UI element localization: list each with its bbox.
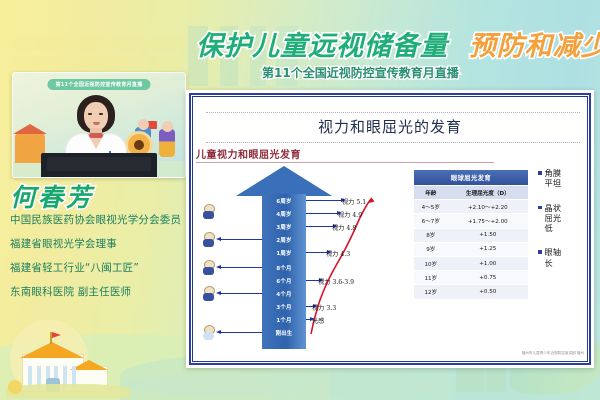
live-video-player[interactable]: 第11个全国近视防控宣传教育月直播 bbox=[12, 72, 186, 178]
cell-age: 10岁 bbox=[414, 256, 448, 270]
age-label-9: 1个月 bbox=[263, 316, 305, 324]
connector-1 bbox=[306, 213, 338, 214]
age-label-8: 3个月 bbox=[263, 303, 305, 311]
video-child-2 bbox=[159, 129, 175, 157]
speaker-credential-1: 中国民族医药协会眼视光学分会委员 bbox=[10, 212, 188, 227]
table-title: 眼球屈光发育 bbox=[414, 170, 528, 186]
slide-bullet-list: 角膜 平坦 晶状 屈光 低 眼轴 长 bbox=[538, 168, 594, 282]
vision-value-3: 视力 4.3 bbox=[326, 249, 350, 258]
connector-4 bbox=[306, 252, 328, 253]
video-podium bbox=[41, 153, 157, 177]
table-title-row: 眼球屈光发育 bbox=[414, 170, 528, 186]
child-figure-toddler bbox=[200, 204, 217, 220]
age-label-5: 8个月 bbox=[263, 264, 305, 272]
vision-value-2: 视力 4.8 bbox=[332, 223, 356, 232]
left-connector-3 bbox=[220, 332, 262, 333]
slide-subtitle: 儿童视力和眼屈光发育 bbox=[196, 146, 301, 161]
table-row: 12岁+0.50 bbox=[414, 285, 528, 299]
page-title-green: 保护儿童远视储备量 bbox=[196, 31, 448, 62]
vision-value-5: 视力 3.3 bbox=[312, 303, 336, 312]
school-illustration bbox=[6, 336, 126, 398]
age-label-1: 4周岁 bbox=[263, 210, 305, 218]
connector-9 bbox=[306, 319, 311, 320]
connector-2 bbox=[306, 226, 334, 227]
table-row: 4～5岁+2.10～+2.20 bbox=[414, 200, 528, 214]
left-connector-2 bbox=[220, 293, 262, 294]
child-figure-crawling bbox=[200, 286, 217, 302]
speaker-credential-2: 福建省眼视光学会理事 bbox=[10, 236, 188, 251]
page-title-orange: 预防和减少近视发 bbox=[469, 31, 600, 62]
cell-age: 8岁 bbox=[414, 228, 448, 242]
slide-divider-bottom bbox=[206, 142, 580, 143]
cell-power: +0.50 bbox=[448, 285, 528, 299]
table-col-age: 年龄 bbox=[414, 186, 448, 200]
presentation-slide[interactable]: 视力和眼屈光的发育 儿童视力和眼屈光发育 6周岁 4周岁 3周岁 2周岁 1周岁… bbox=[186, 90, 594, 368]
left-connector-0 bbox=[220, 239, 262, 240]
bullet-square-icon bbox=[538, 171, 542, 175]
vision-value-1: 视力 4.9 bbox=[338, 210, 362, 219]
age-label-0: 6周岁 bbox=[263, 197, 305, 205]
table-row: 8岁+1.50 bbox=[414, 228, 528, 242]
bullet-text: 晶状 屈光 低 bbox=[545, 203, 562, 234]
bullet-item-axial: 眼轴 长 bbox=[538, 247, 594, 268]
age-label-10: 刚出生 bbox=[263, 329, 305, 337]
bullet-item-lens: 晶状 屈光 低 bbox=[538, 203, 594, 234]
slide-divider-top bbox=[206, 112, 580, 113]
slide-title: 视力和眼屈光的发育 bbox=[186, 116, 594, 137]
cell-power: +1.50 bbox=[448, 228, 528, 242]
cell-power: +0.75 bbox=[448, 271, 528, 285]
child-figure-sitting bbox=[200, 260, 217, 276]
vision-value-0: 视力 5.1 bbox=[342, 197, 366, 206]
bullet-text: 角膜 平坦 bbox=[545, 168, 562, 189]
vision-value-4: 视力 3.6-3.9 bbox=[318, 277, 354, 286]
bullet-square-icon bbox=[538, 206, 542, 210]
age-label-7: 4个月 bbox=[263, 290, 305, 298]
cell-age: 4～5岁 bbox=[414, 200, 448, 214]
page-title: 保护儿童远视储备量 预防和减少近视发 bbox=[196, 24, 600, 63]
bullet-text: 眼轴 长 bbox=[545, 247, 562, 268]
arrow-head bbox=[236, 166, 332, 196]
video-overlay-label: 第11个全国近视防控宣传教育月直播 bbox=[47, 79, 150, 90]
age-label-2: 3周岁 bbox=[263, 223, 305, 231]
table-row: 10岁+1.00 bbox=[414, 256, 528, 270]
cell-age: 6～7岁 bbox=[414, 214, 448, 228]
cell-power: +2.10～+2.20 bbox=[448, 200, 528, 214]
speaker-credential-4: 东南眼科医院 副主任医师 bbox=[10, 284, 188, 299]
table-row: 9岁+1.25 bbox=[414, 242, 528, 256]
vision-value-6: 光感 bbox=[312, 316, 324, 325]
cell-age: 11岁 bbox=[414, 271, 448, 285]
cell-age: 12岁 bbox=[414, 285, 448, 299]
refraction-table: 眼球屈光发育 年龄 生理屈光度（D） 4～5岁+2.10～+2.20 6～7岁+… bbox=[414, 170, 528, 300]
cell-power: +1.25 bbox=[448, 242, 528, 256]
table-row: 6～7岁+1.75～+2.00 bbox=[414, 214, 528, 228]
screen-root: 保护儿童远视储备量 预防和减少近视发 第11个全国近视防控宣传教育月直播 第11… bbox=[0, 0, 600, 400]
slide-footer-note: 福州市儿童青少年近视防控宣讲团 福州 bbox=[522, 351, 584, 356]
age-label-4: 1周岁 bbox=[263, 249, 305, 257]
cell-power: +1.75～+2.00 bbox=[448, 214, 528, 228]
page-subtitle: 第11个全国近视防控宣传教育月直播 bbox=[262, 64, 562, 81]
speaker-credentials: 中国民族医药协会眼视光学分会委员 福建省眼视光学会理事 福建省轻工行业“八闽工匠… bbox=[10, 212, 188, 308]
left-connector-1 bbox=[220, 267, 262, 268]
vision-development-diagram: 6周岁 4周岁 3周岁 2周岁 1周岁 8个月 6个月 4个月 3个月 1个月 … bbox=[192, 166, 417, 351]
child-figure-standing bbox=[200, 232, 217, 248]
connector-0 bbox=[306, 200, 342, 201]
bullet-item-cornea: 角膜 平坦 bbox=[538, 168, 594, 189]
table-header-row: 年龄 生理屈光度（D） bbox=[414, 186, 528, 200]
table-row: 11岁+0.75 bbox=[414, 271, 528, 285]
cell-power: +1.00 bbox=[448, 256, 528, 270]
speaker-name: 何春芳 bbox=[10, 178, 94, 214]
age-label-3: 2周岁 bbox=[263, 236, 305, 244]
speaker-credential-3: 福建省轻工行业“八闽工匠” bbox=[10, 260, 188, 275]
cell-age: 9岁 bbox=[414, 242, 448, 256]
bullet-square-icon bbox=[538, 250, 542, 254]
table-col-power: 生理屈光度（D） bbox=[448, 186, 528, 200]
age-label-6: 6个月 bbox=[263, 277, 305, 285]
child-figure-newborn bbox=[200, 325, 217, 341]
slide-subtitle-rule bbox=[196, 162, 494, 163]
